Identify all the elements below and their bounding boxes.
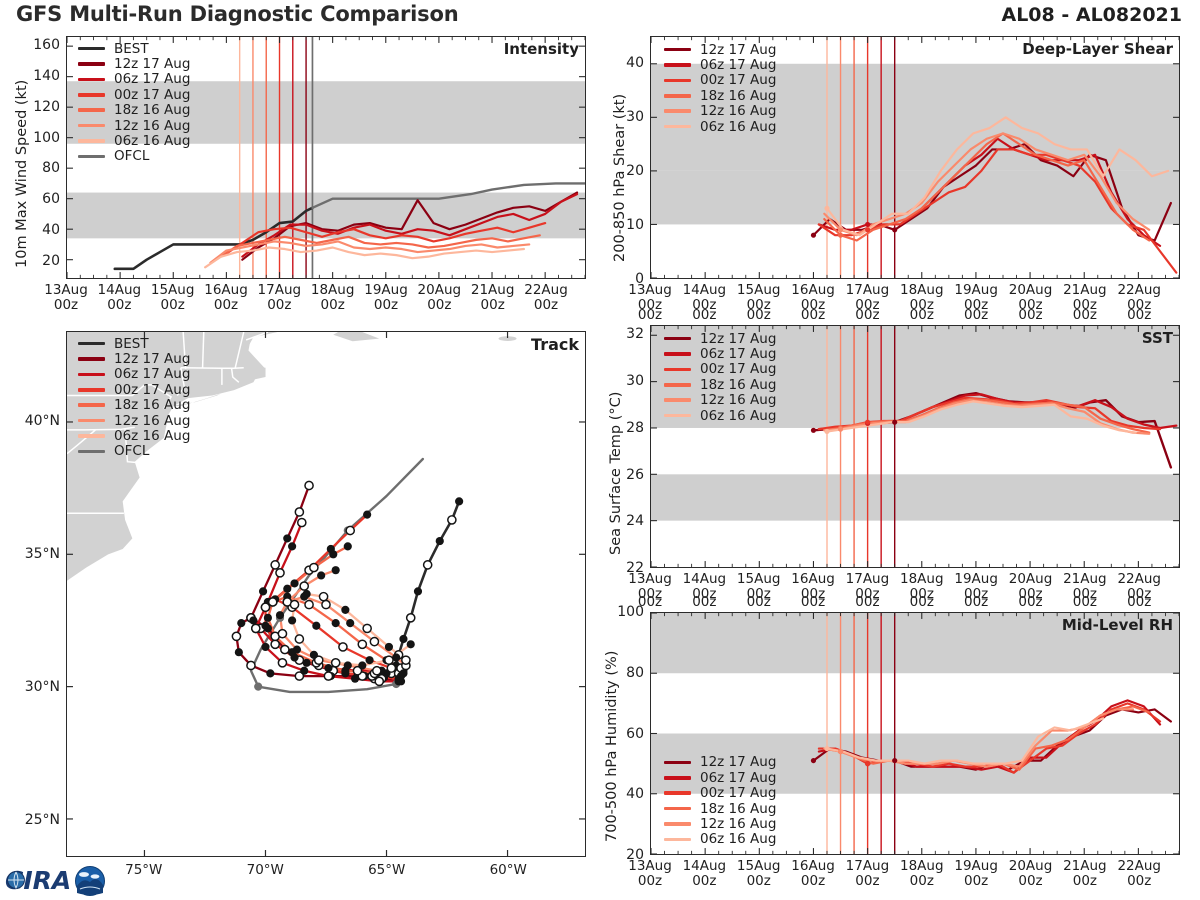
axis-tick-label: 10 xyxy=(604,217,644,233)
legend-label: 06z 16 Aug xyxy=(700,119,776,135)
legend-label: 12z 16 Aug xyxy=(114,118,190,134)
axis-tick-label: 60 xyxy=(604,726,644,742)
legend-swatch xyxy=(664,94,691,98)
legend-swatch xyxy=(664,48,691,52)
track-panel: Track BEST12z 17 Aug06z 17 Aug00z 17 Aug… xyxy=(66,331,586,857)
legend-swatch xyxy=(664,761,691,765)
legend-label: 06z 17 Aug xyxy=(114,71,190,87)
axis-tick-label: 14Aug00z xyxy=(98,283,142,313)
legend-item: 18z 16 Aug xyxy=(78,103,190,118)
legend-item: 18z 16 Aug xyxy=(78,398,190,413)
legend-label: 18z 16 Aug xyxy=(114,102,190,118)
legend-swatch xyxy=(664,383,691,387)
legend-swatch xyxy=(78,373,105,377)
axis-tick-label: 40 xyxy=(20,222,60,238)
legend-label: 06z 16 Aug xyxy=(114,428,190,444)
axis-tick-label: 60 xyxy=(20,191,60,207)
legend-label: 06z 17 Aug xyxy=(700,770,776,786)
legend-item: 06z 16 Aug xyxy=(78,133,190,148)
legend-item: 12z 16 Aug xyxy=(664,104,776,119)
axis-tick-label: 00z xyxy=(1018,308,1042,323)
legend-label: 18z 16 Aug xyxy=(114,397,190,413)
rh-legend: 12z 17 Aug06z 17 Aug00z 17 Aug18z 16 Aug… xyxy=(664,755,776,847)
legend-swatch xyxy=(664,414,691,418)
legend-item: 18z 16 Aug xyxy=(664,88,776,103)
axis-tick-label: 00z xyxy=(855,308,879,323)
legend-label: BEST xyxy=(114,41,149,57)
legend-label: 12z 17 Aug xyxy=(700,331,776,347)
legend-label: 18z 16 Aug xyxy=(700,801,776,817)
legend-swatch xyxy=(78,62,105,66)
legend-label: 12z 16 Aug xyxy=(700,392,776,408)
axis-tick-label: 32 xyxy=(604,326,644,342)
legend-label: 06z 16 Aug xyxy=(700,831,776,847)
legend-swatch xyxy=(78,357,105,361)
axis-tick-label: 16Aug00z xyxy=(791,859,835,889)
legend-swatch xyxy=(664,79,691,83)
track-panel-title: Track xyxy=(531,335,579,354)
axis-tick-label: 20 xyxy=(20,253,60,269)
axis-tick-label: 21Aug00z xyxy=(1063,859,1107,889)
legend-swatch xyxy=(664,776,691,780)
axis-tick-label: 70°W xyxy=(247,863,284,878)
intensity-panel-title: Intensity xyxy=(504,40,579,58)
legend-swatch xyxy=(664,337,691,341)
legend-label: 06z 17 Aug xyxy=(114,366,190,382)
axis-tick-label: 26 xyxy=(604,467,644,483)
axis-tick-label: 13Aug00z xyxy=(628,859,672,889)
axis-tick-label: 21Aug00z xyxy=(471,283,515,313)
axis-tick-label: 17Aug00z xyxy=(846,859,890,889)
legend-item: 12z 16 Aug xyxy=(78,413,190,428)
legend-item: 06z 17 Aug xyxy=(664,770,776,785)
legend-label: 06z 16 Aug xyxy=(700,408,776,424)
legend-item: 12z 16 Aug xyxy=(78,118,190,133)
legend-item: 06z 16 Aug xyxy=(664,408,776,423)
legend-label: 12z 16 Aug xyxy=(700,103,776,119)
sst-panel-title: SST xyxy=(1142,329,1173,347)
legend-label: 06z 17 Aug xyxy=(700,346,776,362)
intensity-panel: Intensity BEST12z 17 Aug06z 17 Aug00z 17… xyxy=(66,36,586,279)
legend-label: 00z 17 Aug xyxy=(700,72,776,88)
axis-tick-label: 00z xyxy=(638,308,662,323)
legend-swatch xyxy=(78,139,105,143)
legend-swatch xyxy=(664,822,691,826)
legend-item: 06z 16 Aug xyxy=(664,119,776,134)
legend-item: OFCL xyxy=(78,444,190,459)
legend-swatch xyxy=(664,368,691,372)
legend-item: 12z 17 Aug xyxy=(78,56,190,71)
legend-item: BEST xyxy=(78,336,190,351)
axis-tick-label: 00z xyxy=(692,595,716,610)
axis-tick-label: 00z xyxy=(801,308,825,323)
legend-swatch xyxy=(78,47,105,51)
legend-swatch xyxy=(78,155,105,159)
legend-swatch xyxy=(664,807,691,811)
rh-panel: Mid-Level RH 12z 17 Aug06z 17 Aug00z 17 … xyxy=(650,612,1180,855)
legend-label: OFCL xyxy=(114,148,149,164)
legend-item: 12z 17 Aug xyxy=(664,42,776,57)
legend-label: 12z 17 Aug xyxy=(700,42,776,58)
axis-tick-label: 65°W xyxy=(368,863,405,878)
axis-tick-label: 80 xyxy=(20,160,60,176)
legend-item: 12z 17 Aug xyxy=(78,351,190,366)
legend-item: 06z 17 Aug xyxy=(78,367,190,382)
intensity-legend: BEST12z 17 Aug06z 17 Aug00z 17 Aug18z 16… xyxy=(78,41,190,164)
axis-tick-label: 24 xyxy=(604,513,644,529)
legend-label: 06z 16 Aug xyxy=(114,133,190,149)
legend-label: 00z 17 Aug xyxy=(700,361,776,377)
legend-label: 12z 16 Aug xyxy=(700,816,776,832)
legend-label: 18z 16 Aug xyxy=(700,377,776,393)
axis-tick-label: 40°N xyxy=(2,413,60,429)
legend-swatch xyxy=(78,78,105,82)
axis-tick-label: 30 xyxy=(604,109,644,125)
axis-tick-label: 00z xyxy=(855,595,879,610)
legend-item: 12z 16 Aug xyxy=(664,393,776,408)
axis-tick-label: 120 xyxy=(20,99,60,115)
shear-legend: 12z 17 Aug06z 17 Aug00z 17 Aug18z 16 Aug… xyxy=(664,42,776,134)
legend-label: OFCL xyxy=(114,443,149,459)
legend-swatch xyxy=(78,124,105,128)
axis-tick-label: 00z xyxy=(1018,595,1042,610)
legend-label: 12z 17 Aug xyxy=(700,754,776,770)
legend-item: OFCL xyxy=(78,149,190,164)
axis-tick-label: 14Aug00z xyxy=(683,859,727,889)
legend-swatch xyxy=(664,838,691,842)
cira-logo: CIRA xyxy=(4,862,108,898)
axis-tick-label: 35°N xyxy=(2,546,60,562)
axis-tick-label: 18Aug00z xyxy=(900,859,944,889)
storm-id-label: AL08 - AL082021 xyxy=(1002,4,1183,26)
axis-tick-label: 20 xyxy=(604,163,644,179)
axis-tick-label: 19Aug00z xyxy=(364,283,408,313)
legend-item: 06z 16 Aug xyxy=(664,832,776,847)
legend-item: 06z 17 Aug xyxy=(78,72,190,87)
legend-swatch xyxy=(664,791,691,795)
axis-tick-label: 75°W xyxy=(125,863,162,878)
legend-item: 00z 17 Aug xyxy=(664,73,776,88)
axis-tick-label: 00z xyxy=(910,595,934,610)
axis-tick-label: 60°W xyxy=(490,863,527,878)
legend-item: 00z 17 Aug xyxy=(664,362,776,377)
legend-item: BEST xyxy=(78,41,190,56)
axis-tick-label: 25°N xyxy=(2,812,60,828)
page-title: GFS Multi-Run Diagnostic Comparison xyxy=(16,2,458,26)
legend-item: 12z 17 Aug xyxy=(664,755,776,770)
legend-label: 00z 17 Aug xyxy=(700,785,776,801)
legend-label: 18z 16 Aug xyxy=(700,88,776,104)
axis-tick-label: 30 xyxy=(604,373,644,389)
axis-tick-label: 100 xyxy=(20,130,60,146)
shear-panel-title: Deep-Layer Shear xyxy=(1022,40,1173,58)
legend-label: 12z 17 Aug xyxy=(114,56,190,72)
axis-tick-label: 22Aug00z xyxy=(1117,859,1161,889)
legend-swatch xyxy=(78,108,105,112)
legend-swatch xyxy=(78,450,105,454)
legend-item: 06z 16 Aug xyxy=(78,428,190,443)
legend-item: 18z 16 Aug xyxy=(664,377,776,392)
axis-tick-label: 00z xyxy=(910,308,934,323)
sst-panel: SST 12z 17 Aug06z 17 Aug00z 17 Aug18z 16… xyxy=(650,325,1180,568)
axis-tick-label: 00z xyxy=(964,595,988,610)
axis-tick-label: 00z xyxy=(638,595,662,610)
axis-tick-label: 15Aug00z xyxy=(737,859,781,889)
axis-tick-label: 40 xyxy=(604,786,644,802)
shear-panel: Deep-Layer Shear 12z 17 Aug06z 17 Aug00z… xyxy=(650,36,1180,279)
axis-tick-label: 20Aug00z xyxy=(418,283,462,313)
legend-item: 06z 17 Aug xyxy=(664,57,776,72)
legend-swatch xyxy=(664,109,691,113)
legend-swatch xyxy=(664,63,691,67)
rh-panel-title: Mid-Level RH xyxy=(1062,616,1173,634)
legend-item: 00z 17 Aug xyxy=(78,87,190,102)
axis-tick-label: 22Aug00z xyxy=(524,283,568,313)
legend-swatch xyxy=(78,434,105,438)
legend-label: 06z 17 Aug xyxy=(700,57,776,73)
legend-label: 00z 17 Aug xyxy=(114,382,190,398)
axis-tick-label: 19Aug00z xyxy=(954,859,998,889)
axis-tick-label: 18Aug00z xyxy=(311,283,355,313)
axis-tick-label: 40 xyxy=(604,55,644,71)
axis-tick-label: 00z xyxy=(964,308,988,323)
axis-tick-label: 17Aug00z xyxy=(258,283,302,313)
legend-label: 00z 17 Aug xyxy=(114,87,190,103)
legend-swatch xyxy=(78,388,105,392)
axis-tick-label: 140 xyxy=(20,68,60,84)
legend-item: 12z 17 Aug xyxy=(664,331,776,346)
axis-tick-label: 30°N xyxy=(2,679,60,695)
axis-tick-label: 00z xyxy=(747,308,771,323)
axis-tick-label: 00z xyxy=(801,595,825,610)
track-legend: BEST12z 17 Aug06z 17 Aug00z 17 Aug18z 16… xyxy=(78,336,190,459)
axis-tick-label: 80 xyxy=(604,665,644,681)
legend-item: 18z 16 Aug xyxy=(664,801,776,816)
axis-tick-label: 13Aug00z xyxy=(44,283,88,313)
legend-label: 12z 16 Aug xyxy=(114,413,190,429)
legend-swatch xyxy=(78,403,105,407)
legend-label: BEST xyxy=(114,336,149,352)
axis-tick-label: 00z xyxy=(692,308,716,323)
legend-swatch xyxy=(664,398,691,402)
legend-item: 06z 17 Aug xyxy=(664,346,776,361)
legend-item: 00z 17 Aug xyxy=(78,382,190,397)
header-bar: GFS Multi-Run Diagnostic Comparison AL08… xyxy=(0,0,1200,30)
axis-tick-label: 00z xyxy=(1073,308,1097,323)
axis-tick-label: 16Aug00z xyxy=(204,283,248,313)
legend-item: 00z 17 Aug xyxy=(664,785,776,800)
legend-item: 12z 16 Aug xyxy=(664,816,776,831)
sst-legend: 12z 17 Aug06z 17 Aug00z 17 Aug18z 16 Aug… xyxy=(664,331,776,423)
axis-tick-label: 00z xyxy=(747,595,771,610)
legend-swatch xyxy=(664,352,691,356)
axis-tick-label: 00z xyxy=(1073,595,1097,610)
legend-swatch xyxy=(78,342,105,346)
axis-tick-label: 160 xyxy=(20,37,60,53)
legend-label: 12z 17 Aug xyxy=(114,351,190,367)
axis-tick-label: 15Aug00z xyxy=(151,283,195,313)
axis-tick-label: 00z xyxy=(1127,308,1151,323)
legend-swatch xyxy=(78,419,105,423)
legend-swatch xyxy=(664,125,691,129)
axis-tick-label: 20Aug00z xyxy=(1009,859,1053,889)
legend-swatch xyxy=(78,93,105,97)
axis-tick-label: 28 xyxy=(604,420,644,436)
axis-tick-label: 00z xyxy=(1127,595,1151,610)
